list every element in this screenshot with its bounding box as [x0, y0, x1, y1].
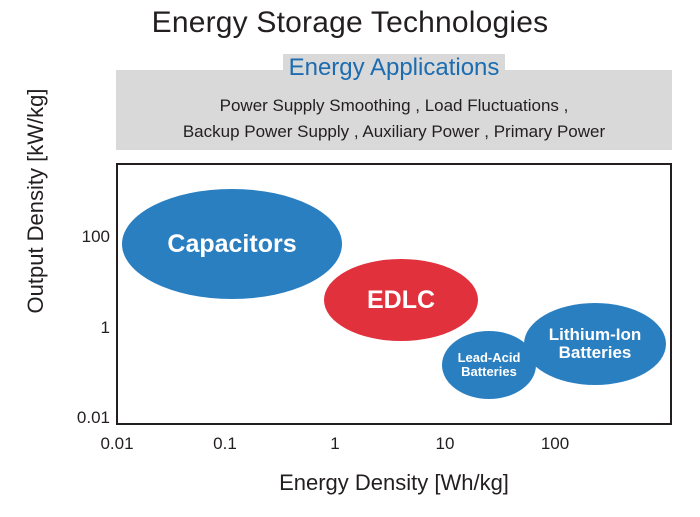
x-tick-0-1: 0.1 — [190, 434, 260, 454]
x-tick-100: 100 — [520, 434, 590, 454]
y-axis-label: Output Density [kW/kg] — [23, 81, 49, 321]
x-tick-1: 1 — [300, 434, 370, 454]
y-tick-100: 100 — [50, 227, 110, 247]
x-tick-0-01: 0.01 — [82, 434, 152, 454]
y-tick-1: 1 — [50, 318, 110, 338]
y-tick-0-01: 0.01 — [50, 408, 110, 428]
x-axis-label: Energy Density [Wh/kg] — [116, 470, 672, 496]
x-tick-10: 10 — [410, 434, 480, 454]
